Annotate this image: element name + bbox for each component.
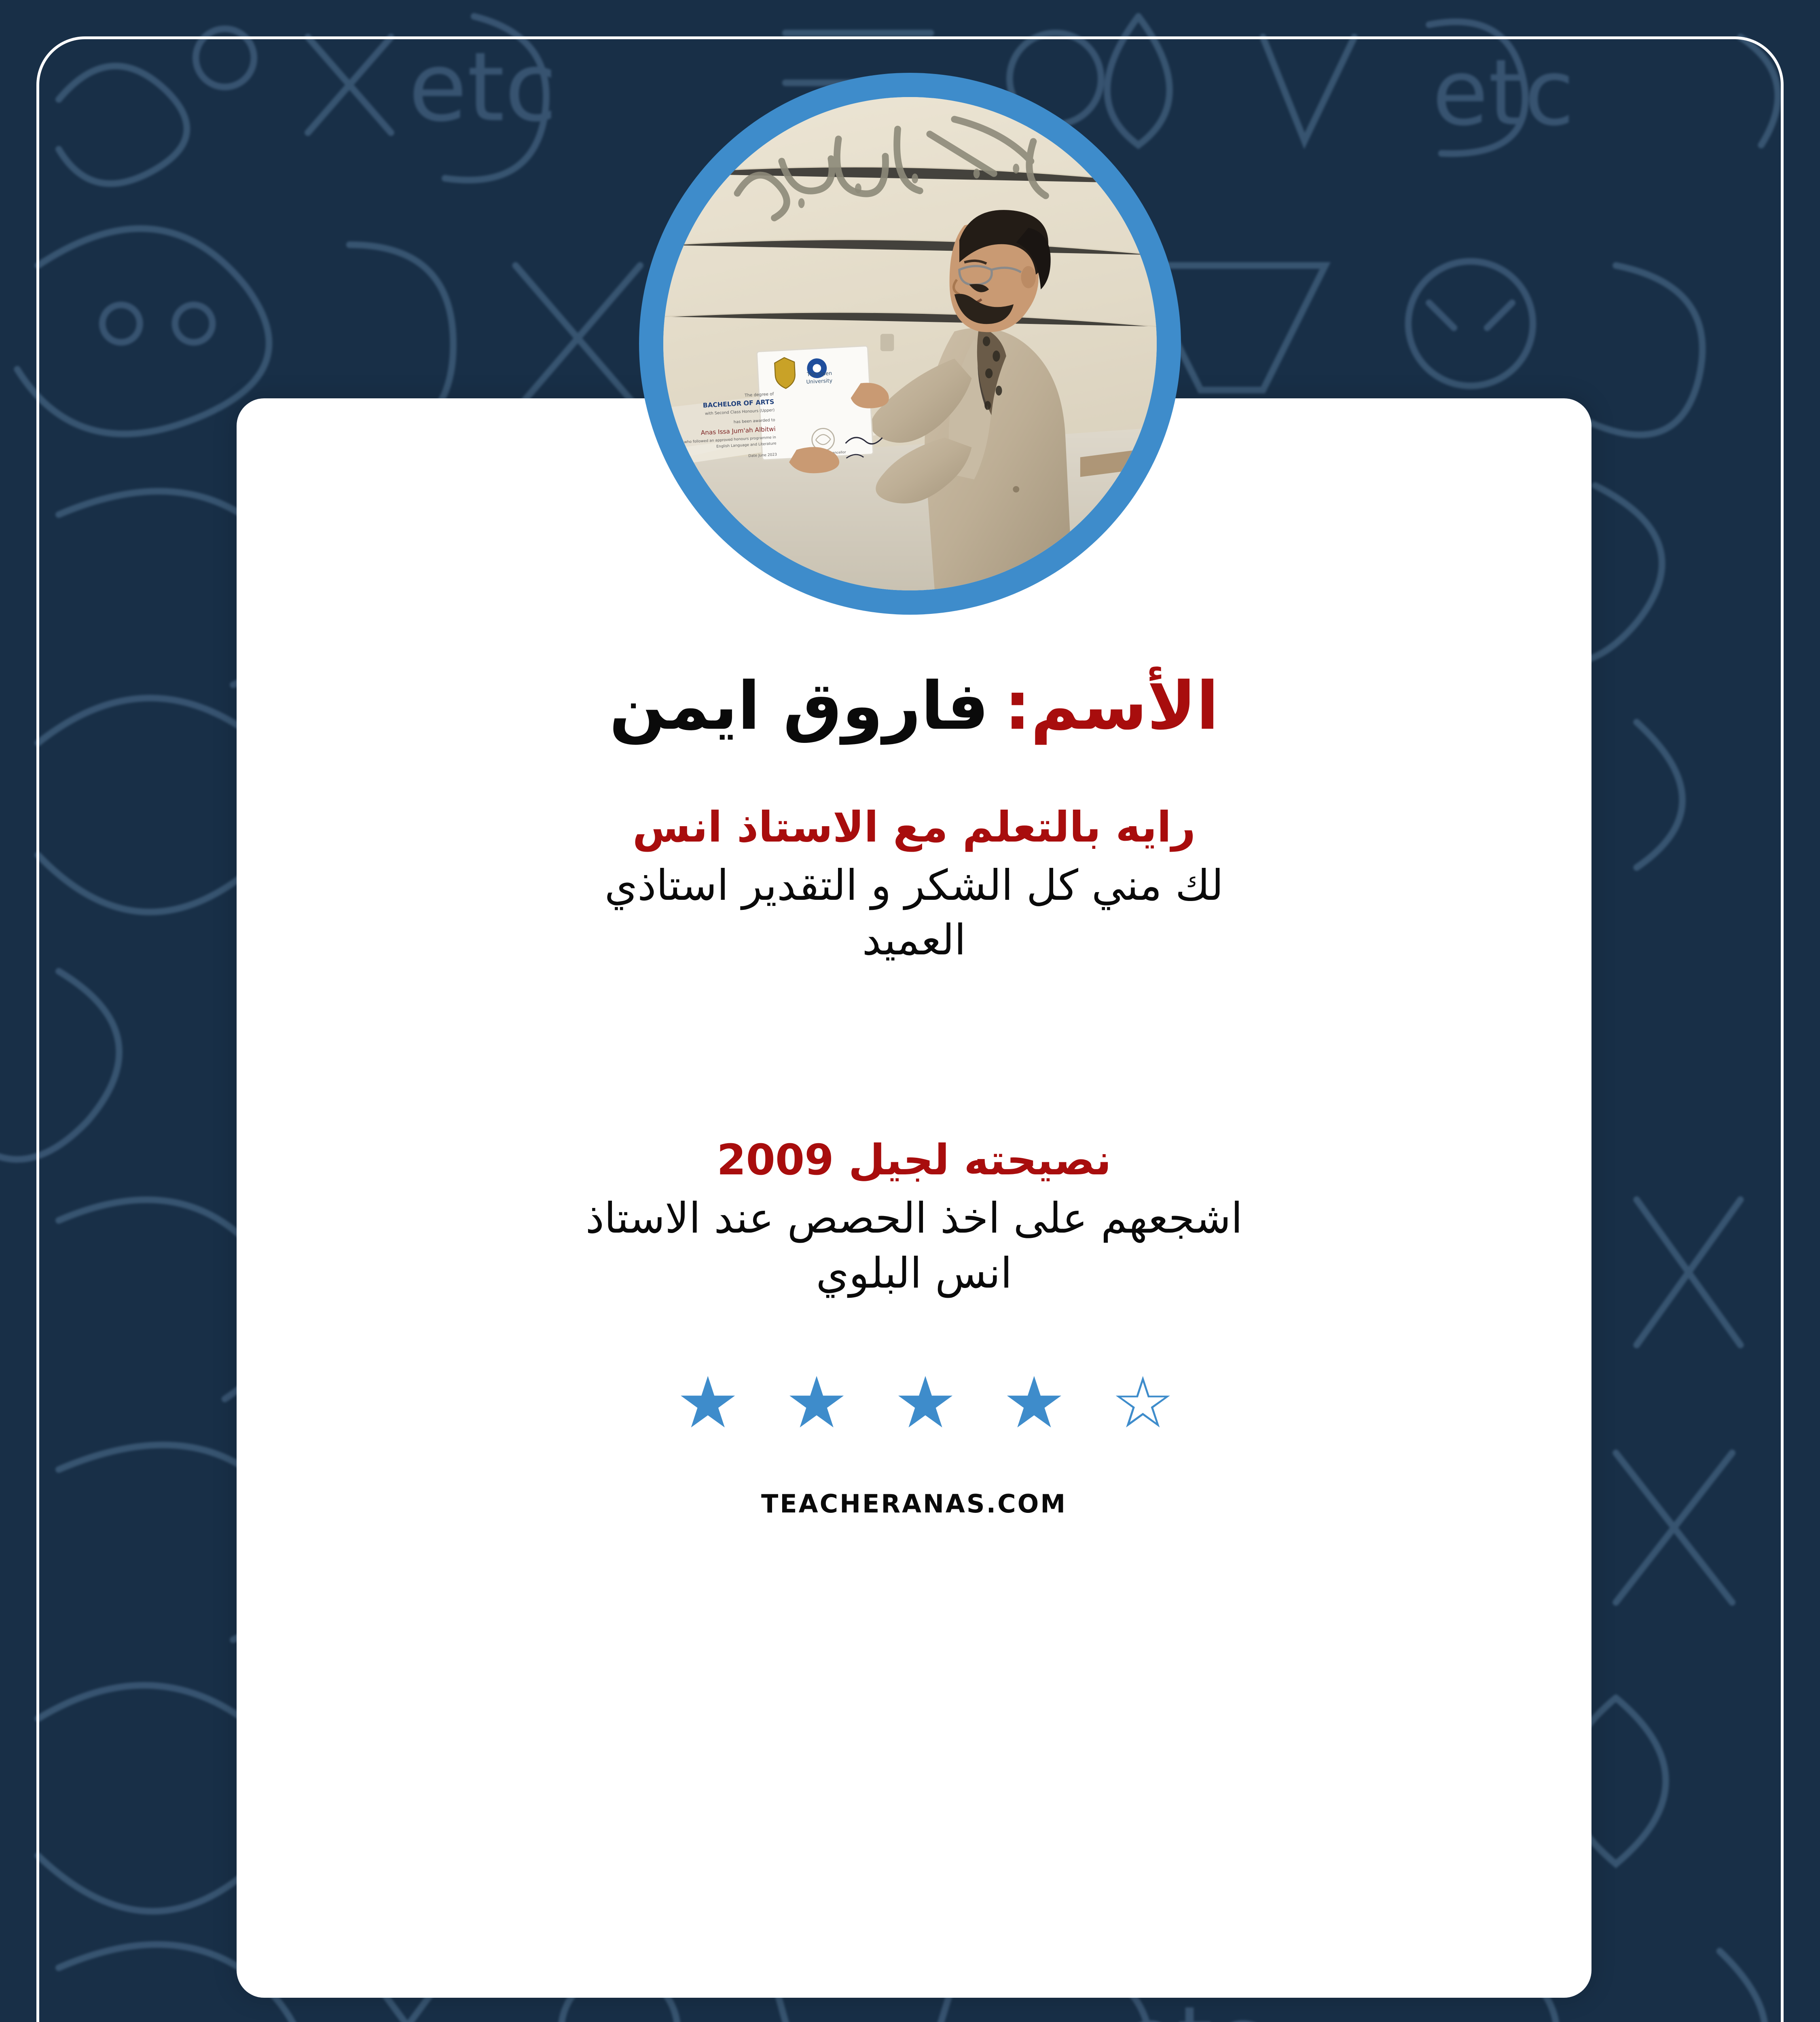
card-content: الأسم:فاروق ايمن رايه بالتعلم مع الاستاذ…	[237, 398, 1591, 1998]
section-spacer	[309, 967, 1519, 1081]
advice-body-line-1: اشجعهم على اخذ الحصص عند الاستاذ	[309, 1191, 1519, 1246]
testimonial-card: الأسم:فاروق ايمن رايه بالتعلم مع الاستاذ…	[237, 398, 1591, 1998]
advice-body-line-2: انس البلوي	[309, 1246, 1519, 1301]
opinion-body-line-1: لك مني كل الشكر و التقدير استاذي	[309, 858, 1519, 913]
opinion-heading: رايه بالتعلم مع الاستاذ انس	[309, 800, 1519, 854]
star-filled[interactable]: ★	[871, 1368, 980, 1438]
star-filled[interactable]: ★	[654, 1368, 762, 1438]
name-label: الأسم:	[1004, 668, 1219, 745]
avatar: The Open University The degree of BACHEL…	[663, 97, 1157, 590]
rating-stars[interactable]: ★★★★☆	[309, 1368, 1519, 1438]
avatar-ring: The Open University The degree of BACHEL…	[639, 73, 1181, 615]
student-name-row: الأسم:فاروق ايمن	[309, 665, 1519, 748]
opinion-section: رايه بالتعلم مع الاستاذ انس لك مني كل ال…	[309, 800, 1519, 967]
svg-text:etc: etc	[408, 32, 557, 143]
opinion-body-line-2: العميد	[309, 913, 1519, 967]
star-empty[interactable]: ☆	[1088, 1368, 1197, 1438]
website-footer: TEACHERANAS.COM	[309, 1489, 1519, 1519]
name-value: فاروق ايمن	[609, 668, 989, 745]
advice-heading: نصيحته لجيل 2009	[309, 1133, 1519, 1187]
advice-section: نصيحته لجيل 2009 اشجعهم على اخذ الحصص عن…	[309, 1133, 1519, 1300]
star-filled[interactable]: ★	[762, 1368, 871, 1438]
svg-text:etc: etc	[1432, 40, 1575, 146]
star-filled[interactable]: ★	[980, 1368, 1088, 1438]
poster-background: etc etc	[0, 0, 1820, 2022]
